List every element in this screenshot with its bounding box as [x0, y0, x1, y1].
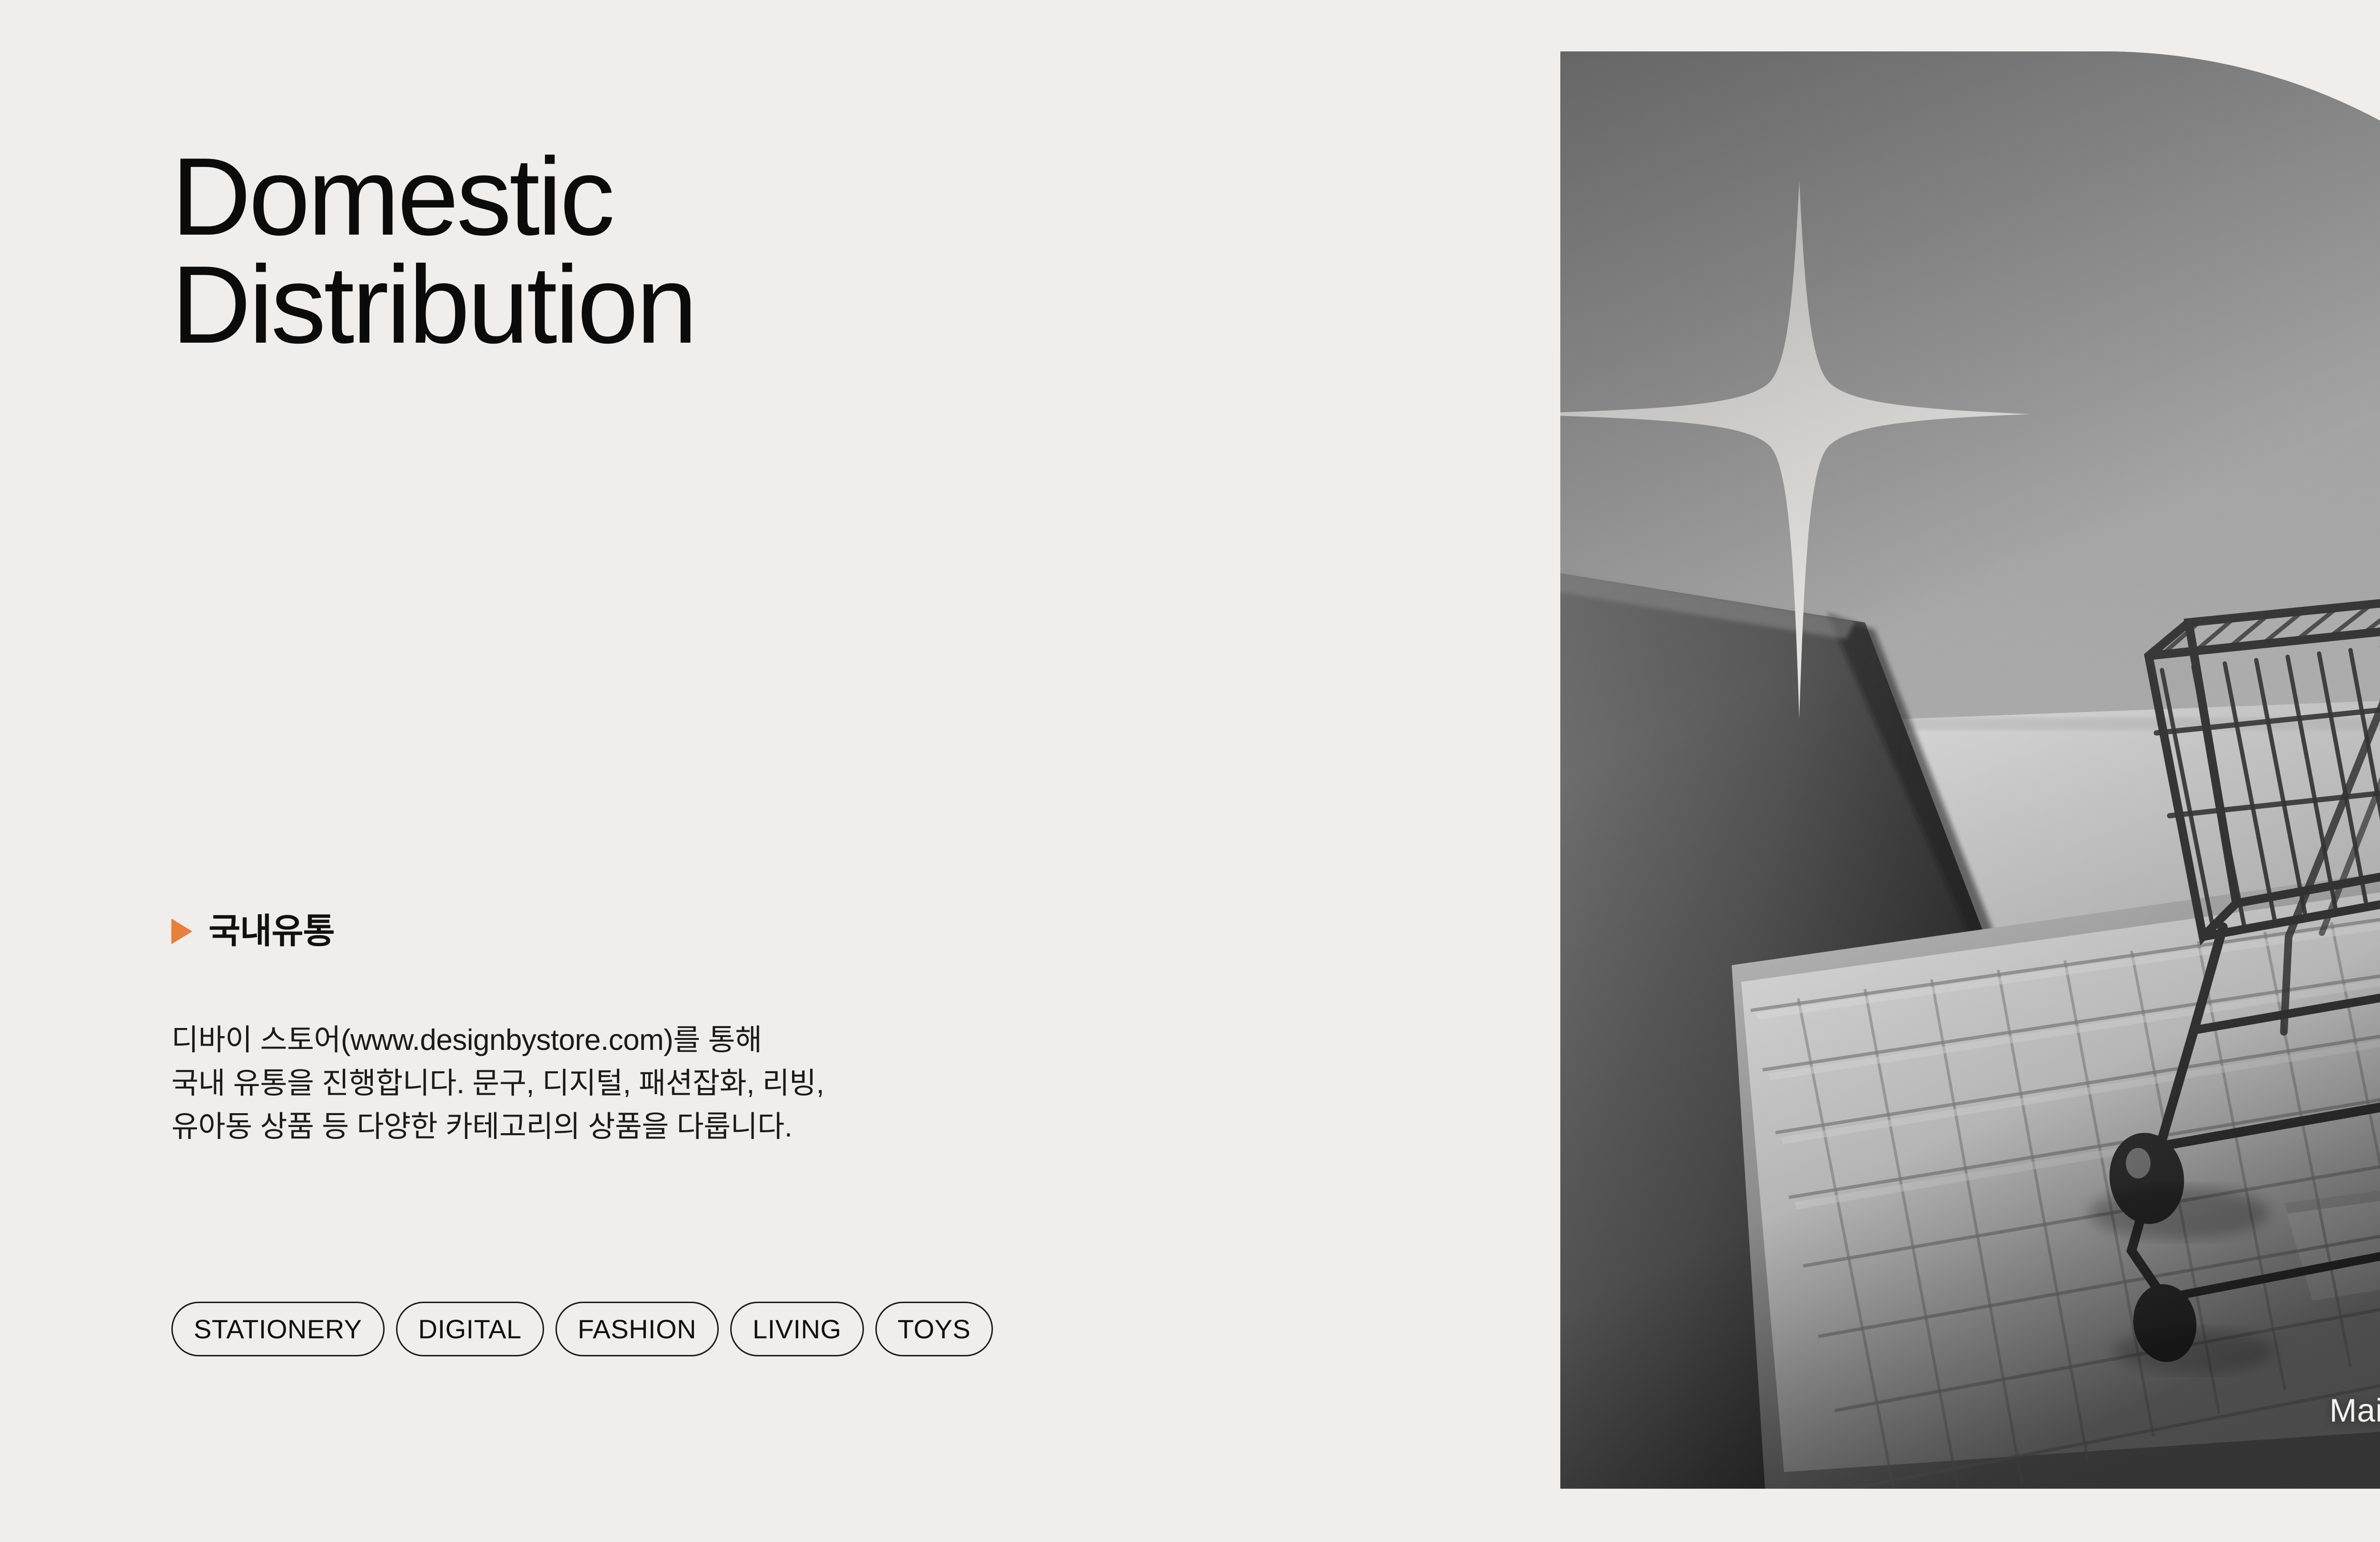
feature-photo-panel: Main business 06 — [1560, 51, 2380, 1489]
shopping-cart-on-keyboard-photo — [1560, 51, 2380, 1489]
triangle-right-icon — [171, 919, 192, 944]
category-tag[interactable]: STATIONERY — [171, 1302, 385, 1356]
category-tag[interactable]: FASHION — [555, 1302, 719, 1356]
section-heading-row: 국내유통 — [171, 914, 335, 949]
category-tag[interactable]: DIGITAL — [396, 1302, 544, 1356]
page-title: Domestic Distribution — [171, 143, 695, 359]
left-content-column: Domestic Distribution 국내유통 디바이 스토어(www.d… — [171, 0, 1457, 1542]
category-tag-list: STATIONERY DIGITAL FASHION LIVING TOYS — [171, 1302, 993, 1356]
body-line-1: 디바이 스토어(www.designbystore.com)를 통해 — [171, 1018, 824, 1062]
body-line-2: 국내 유통을 진행합니다. 문구, 디지털, 패션잡화, 리빙, — [171, 1062, 824, 1105]
body-paragraph: 디바이 스토어(www.designbystore.com)를 통해 국내 유통… — [171, 1018, 824, 1148]
section-heading-label: 국내유통 — [208, 914, 335, 949]
section-heading: 국내유통 — [171, 914, 335, 949]
body-line-3: 유아동 상품 등 다양한 카테고리의 상품을 다룹니다. — [171, 1105, 824, 1148]
photo-caption-label: Main business — [2330, 1394, 2380, 1427]
page-title-line-2: Distribution — [171, 251, 695, 359]
category-tag[interactable]: LIVING — [730, 1302, 864, 1356]
category-tag[interactable]: TOYS — [875, 1302, 993, 1356]
slide-root: Domestic Distribution 국내유통 디바이 스토어(www.d… — [0, 0, 2380, 1542]
photo-caption: Main business 06 — [2330, 1394, 2380, 1427]
page-title-line-1: Domestic — [171, 143, 695, 251]
